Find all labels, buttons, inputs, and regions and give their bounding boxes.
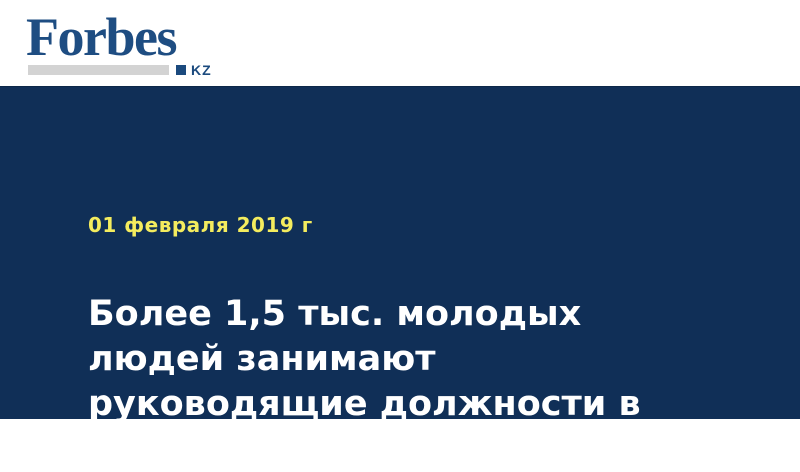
article-headline: Более 1,5 тыс. молодых людей занимают ру… bbox=[88, 292, 688, 472]
site-masthead: Forbes KZ bbox=[0, 0, 800, 87]
article-hero: 01 февраля 2019 г Более 1,5 тыс. молодых… bbox=[0, 87, 800, 419]
article-page: Forbes KZ 01 февраля 2019 г Более 1,5 ты… bbox=[0, 0, 800, 419]
logo-edition-label: KZ bbox=[191, 62, 212, 78]
blue-square-icon bbox=[176, 65, 186, 75]
article-date: 01 февраля 2019 г bbox=[88, 213, 313, 237]
forbes-wordmark: Forbes bbox=[26, 10, 176, 64]
gray-bar-decoration bbox=[28, 65, 169, 75]
logo-underline-row: KZ bbox=[28, 62, 256, 78]
forbes-kz-logo[interactable]: Forbes KZ bbox=[26, 10, 256, 78]
